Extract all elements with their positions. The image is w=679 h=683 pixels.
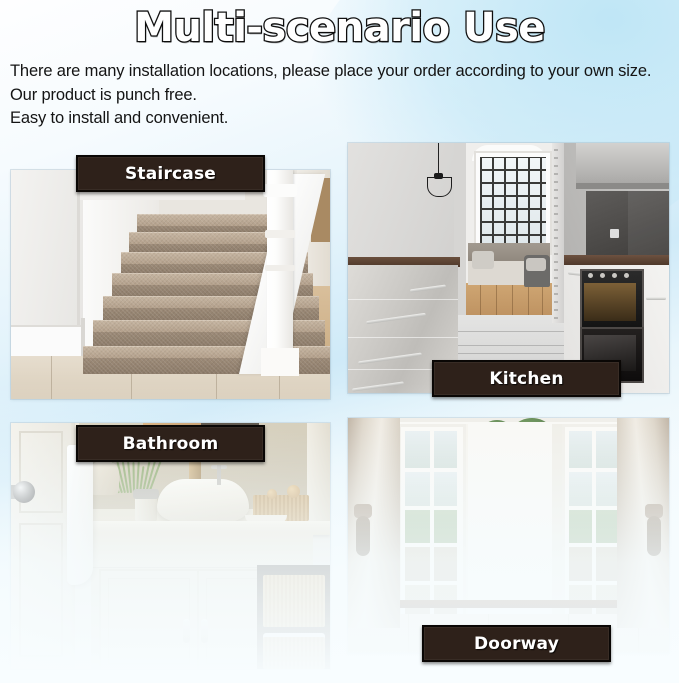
doorway-mullion-vertical [430,431,434,619]
scene-label-bathroom: Bathroom [76,425,265,462]
kitchen-wood-floor [466,283,554,319]
bathroom-hanging-towel [67,445,93,585]
doorway-mullion-horizontal [569,468,619,472]
doorway-left-glazing [405,431,459,619]
doorway-glass-pane [569,469,592,506]
bathroom-pitcher [189,461,201,481]
bathroom-faucet-base [133,489,159,499]
bathroom-tap-stem [217,465,221,485]
staircase-newel-post [267,170,293,375]
kitchen-backsplash-panel [628,191,669,257]
doorway-glass-pane [432,469,457,506]
kitchen-power-outlet [610,229,619,238]
doorway-tassel-right [647,516,661,556]
doorway-glass-pane [405,431,430,468]
kitchen-cabinet-handle [646,297,666,300]
doorway-mullion-horizontal [405,581,459,585]
doorway-open-leaf-gap-right [552,424,562,620]
kitchen-oven-knob [588,273,593,278]
bathroom-cabinet-pull-right[interactable] [201,619,208,643]
kitchen-cabinet-seam [348,299,458,300]
kitchen-cabinet-handle [366,313,426,324]
doorway-mullion-vertical [592,431,596,619]
doorway-mullion-horizontal [405,468,459,472]
scene-photo-kitchen [348,143,669,393]
product-infographic-poster: Multi-scenario Use There are many instal… [0,0,679,683]
bathroom-decor-ball-2 [267,489,277,499]
bathroom-wicker-basket-lower [263,637,325,669]
bathroom-wicker-basket-upper [263,575,325,627]
doorway-glass-pane [594,507,617,544]
doorway-glass-pane [594,544,617,581]
doorway-glass-pane [432,507,457,544]
kitchen-column-detail [554,149,558,319]
doorway-glass-pane [432,431,457,468]
doorway-glass-pane [405,507,430,544]
kitchen-cabinet-handle [410,285,446,293]
bathroom-door[interactable] [11,423,71,669]
doorway-glass-pane [594,469,617,506]
doorway-glass-pane [569,544,592,581]
poster-header: Multi-scenario Use [0,6,679,50]
bathroom-door-panel-bottom [19,523,63,657]
bathroom-right-wall [307,423,330,535]
staircase-newel-ring-lower [265,265,295,271]
doorway-glass-pane [569,507,592,544]
doorway-mullion-horizontal [569,506,619,510]
kitchen-floor-plank-line [542,283,543,319]
page-title: Multi-scenario Use [134,6,545,50]
bathroom-decor-ball-1 [287,485,300,498]
kitchen-cabinet-handle [352,381,404,391]
doorway-french-door-left[interactable] [398,424,466,626]
scene-photo-doorway [348,418,669,653]
kitchen-tile-grout-line [454,345,564,346]
staircase-newel-cap [263,184,297,197]
bathroom-vessel-sink [157,479,249,523]
description-line-1: There are many installation locations, p… [10,60,671,84]
doorway-glass-pane [405,544,430,581]
bathroom-door-knob[interactable] [13,481,35,503]
kitchen-cushion [472,251,494,269]
bathroom-decor-vase [89,461,119,495]
kitchen-oven-knob [600,273,605,278]
kitchen-cabinet-seam [348,337,458,338]
kitchen-oven-knob [624,273,629,278]
scene-label-kitchen: Kitchen [432,360,621,397]
kitchen-illustration [348,143,669,393]
kitchen-floor-plank-line [496,283,497,319]
doorway-mullion-horizontal [569,581,619,585]
bathroom-vanity-apron [91,533,313,568]
kitchen-floor-plank-line [480,283,481,319]
staircase-newel-ring-upper [265,230,295,238]
kitchen-armchair-cushion [526,258,546,271]
doorway-mullion-horizontal [405,543,459,547]
description-line-3: Easy to install and convenient. [10,107,671,131]
doorway-right-glazing [569,431,619,619]
doorway-floor-tile-line [408,614,409,653]
staircase-newel-base [261,348,299,376]
kitchen-pendant-shade [427,177,452,197]
doorway-tassel-left [356,516,370,556]
staircase-floor-tile-line [51,356,52,399]
bathroom-cabinet-pull-left[interactable] [183,619,190,643]
kitchen-window [476,153,550,253]
scene-label-staircase: Staircase [76,155,265,192]
kitchen-oven-knob [612,273,617,278]
doorway-glass-pane [432,544,457,581]
doorway-threshold [396,600,622,608]
doorway-mullion-horizontal [405,506,459,510]
kitchen-extractor-hood [576,143,669,185]
kitchen-floor-plank-line [528,283,529,319]
description-line-2: Our product is punch free. [10,84,671,108]
kitchen-oven-glass [584,283,636,321]
staircase-illustration [11,170,330,399]
doorway-curtain-right [617,418,669,628]
kitchen-window-grid [480,157,546,249]
doorway-glass-pane [405,469,430,506]
doorway-illustration [348,418,669,653]
doorway-glass-pane [569,431,592,468]
scene-photo-staircase [11,170,330,399]
bathroom-cabinet-door-left-panel [108,578,190,664]
kitchen-cabinet-handle [358,353,422,365]
scene-label-doorway: Doorway [422,625,611,662]
poster-description: There are many installation locations, p… [10,60,671,131]
kitchen-hood-lip [576,183,669,189]
kitchen-floor-plank-line [512,283,513,319]
doorway-mullion-horizontal [569,543,619,547]
doorway-glass-pane [594,431,617,468]
kitchen-tile-grout-line [454,353,564,354]
kitchen-tile-grout-line [454,331,564,332]
